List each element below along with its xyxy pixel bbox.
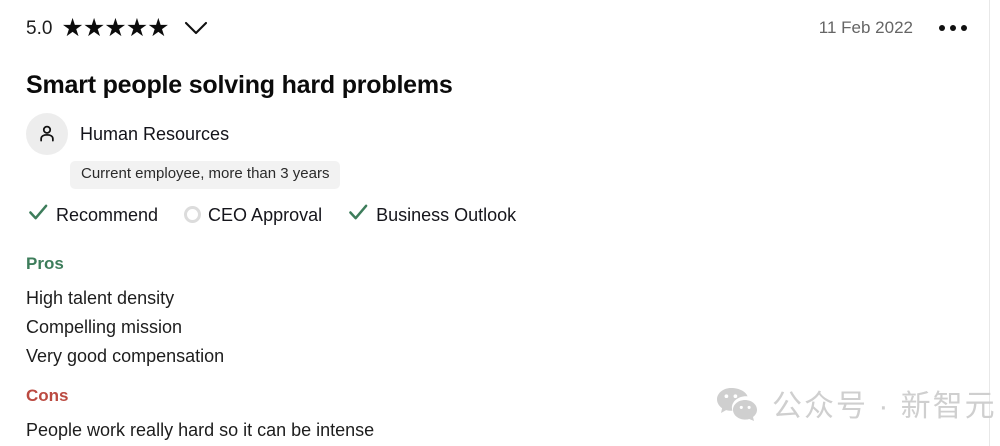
reviewer-block: Human Resources Current employee, more t… [26, 112, 340, 189]
kebab-menu-icon[interactable] [939, 25, 967, 31]
check-icon [348, 202, 369, 227]
avatar [26, 113, 68, 155]
star-icon: ★ [126, 16, 147, 41]
chevron-down-icon[interactable] [184, 21, 208, 36]
kebab-dot [950, 25, 956, 31]
reviewer-row: Human Resources [26, 112, 340, 156]
sentiment-ceo-approval: CEO Approval [184, 206, 322, 224]
review-header: 5.0 ★ ★ ★ ★ ★ 11 Feb 2022 [26, 12, 967, 44]
sentiment-label: CEO Approval [208, 206, 322, 224]
watermark-text: 公众号 · 新智元 [772, 392, 997, 422]
cons-section: Cons People work really hard so it can b… [26, 387, 374, 445]
person-icon [36, 123, 58, 145]
review-meta: 11 Feb 2022 [819, 18, 967, 38]
review-title: Smart people solving hard problems [26, 70, 453, 100]
pros-section: Pros High talent density Compelling miss… [26, 255, 224, 371]
pros-heading: Pros [26, 255, 224, 272]
circle-icon [184, 206, 201, 223]
star-rating: ★ ★ ★ ★ ★ [61, 16, 168, 41]
sentiment-recommend: Recommend [28, 202, 158, 227]
rating-group[interactable]: 5.0 ★ ★ ★ ★ ★ [26, 16, 208, 41]
check-icon [28, 202, 49, 227]
star-icon: ★ [147, 16, 168, 41]
pros-line: Very good compensation [26, 342, 224, 371]
sentiment-business-outlook: Business Outlook [348, 202, 516, 227]
reviewer-job-title: Human Resources [80, 125, 229, 143]
pros-line: Compelling mission [26, 313, 224, 342]
cons-heading: Cons [26, 387, 374, 404]
review-date: 11 Feb 2022 [819, 18, 913, 38]
star-icon: ★ [83, 16, 104, 41]
review-card: 5.0 ★ ★ ★ ★ ★ 11 Feb 2022 Smart [0, 0, 990, 446]
sentiment-row: Recommend CEO Approval Business Outlook [28, 202, 516, 227]
watermark: 公众号 · 新智元 [716, 386, 997, 427]
status-badge: Current employee, more than 3 years [70, 161, 340, 189]
kebab-dot [961, 25, 967, 31]
cons-line: People work really hard so it can be int… [26, 416, 374, 445]
star-icon: ★ [61, 16, 82, 41]
star-icon: ★ [104, 16, 125, 41]
wechat-icon [716, 386, 758, 427]
kebab-dot [939, 25, 945, 31]
pros-line: High talent density [26, 284, 224, 313]
rating-value: 5.0 [26, 19, 52, 38]
sentiment-label: Business Outlook [376, 206, 516, 224]
sentiment-label: Recommend [56, 206, 158, 224]
